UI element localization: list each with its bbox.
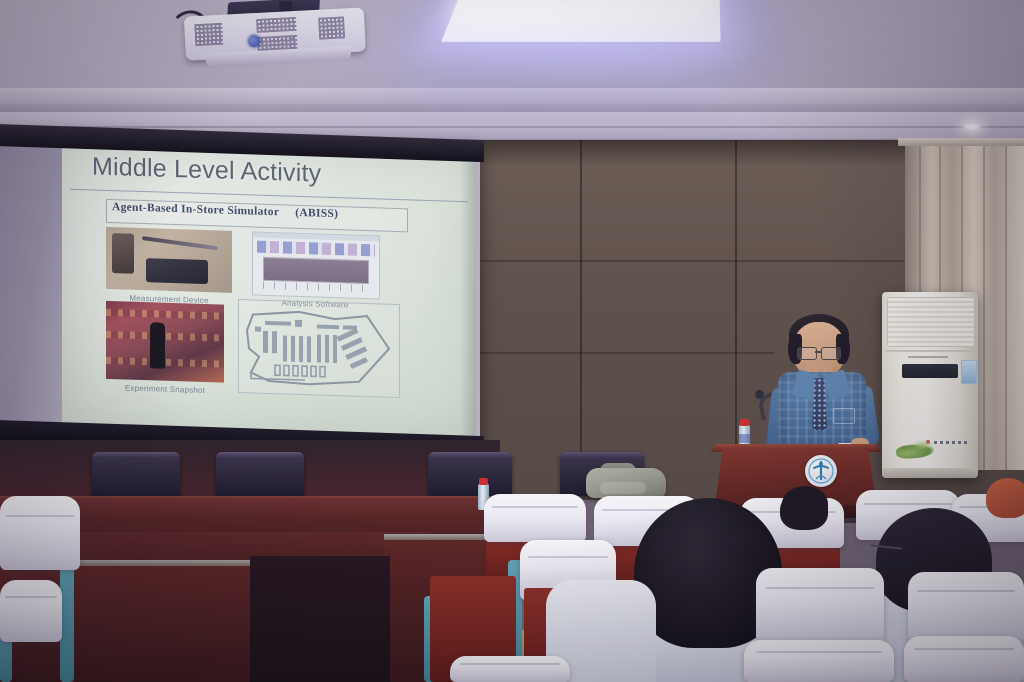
backpack-pocket (600, 482, 646, 494)
store-shelf (106, 331, 224, 342)
ac-display-readout (934, 441, 968, 444)
curtain-fold (983, 140, 985, 470)
slide-edge-falloff (460, 154, 476, 437)
air-conditioner-unit (882, 292, 978, 478)
store-shelf (106, 357, 224, 368)
water-bottle-podium-cap (740, 419, 749, 426)
projector-vent-right (318, 16, 345, 39)
water-bottle-cap (479, 478, 488, 485)
slide-image-measurement-device (106, 227, 232, 293)
seat-cover (904, 636, 1024, 682)
ceiling-cornice-upper (0, 88, 1024, 104)
bottle-label (739, 434, 750, 443)
ceiling-projector (184, 3, 367, 70)
head-table-chair (92, 452, 180, 498)
presenter-glasses-icon (797, 347, 817, 360)
chair-headrest (560, 452, 644, 458)
ceiling-panel-light-core (463, 0, 699, 13)
ac-base (882, 468, 978, 478)
chair-headrest (216, 452, 304, 458)
slide-image-analysis-software (252, 231, 380, 299)
software-plot-area (263, 257, 369, 284)
projector-vent-left (194, 23, 223, 46)
slide-image-experiment-snapshot (106, 301, 224, 383)
ac-display-panel (902, 364, 958, 378)
ac-brand-mark (908, 356, 948, 358)
store-floorplan-svg (239, 300, 397, 395)
desk-front-shadowed (250, 556, 390, 682)
presenter-glasses-icon (821, 347, 841, 360)
measurement-device-sensor (112, 233, 134, 274)
seat-cover (744, 640, 894, 682)
recessed-downlight (963, 122, 981, 131)
ac-panel-seam (885, 350, 975, 352)
seat-frame (60, 566, 74, 682)
presentation-room-photo: Middle Level Activity Agent-Based In-Sto… (0, 0, 1024, 682)
chair-headrest (428, 452, 512, 458)
software-toolbar (257, 241, 375, 257)
curtain-fold (1005, 140, 1007, 470)
attendee-headscarf (986, 478, 1024, 518)
emblem-icon (805, 455, 837, 487)
seat-cover (756, 568, 884, 642)
slide-image-store-floorplan (238, 299, 400, 398)
ac-louver-vent (887, 297, 975, 347)
presenter-shirt-pocket (833, 408, 855, 424)
ac-energy-label (961, 360, 977, 384)
soffit-line-a (0, 126, 1024, 128)
seat-cover (0, 496, 80, 570)
seat-cover (484, 494, 586, 542)
backpack-on-table (586, 468, 666, 498)
chair-headrest (92, 452, 180, 458)
projected-slide: Middle Level Activity Agent-Based In-Sto… (62, 141, 476, 436)
curtain-rail (898, 138, 1024, 146)
measurement-device-probe (142, 236, 218, 250)
institution-emblem (805, 455, 837, 487)
measurement-device-logger (146, 258, 208, 284)
store-shelf (106, 309, 224, 320)
seat-cover (908, 572, 1024, 642)
presenter-glasses-bridge (815, 351, 821, 353)
head-table-chair (428, 452, 512, 498)
slide-subtitle-acronym: (ABISS) (295, 207, 338, 220)
wall-seam-2 (735, 140, 737, 470)
attendee-far-head (782, 486, 828, 522)
head-table-chair (216, 452, 304, 498)
projector-vent-top (256, 17, 297, 33)
decorative-plant-leaf (912, 440, 934, 450)
seat-cover (0, 580, 62, 642)
shopper-silhouette (150, 322, 165, 368)
wall-seam-h1 (474, 260, 914, 262)
wall-seam-1 (580, 140, 582, 470)
microphone-capsule-icon (755, 390, 764, 399)
wall-seam-h2 (474, 352, 774, 354)
seat-cover (450, 656, 570, 682)
